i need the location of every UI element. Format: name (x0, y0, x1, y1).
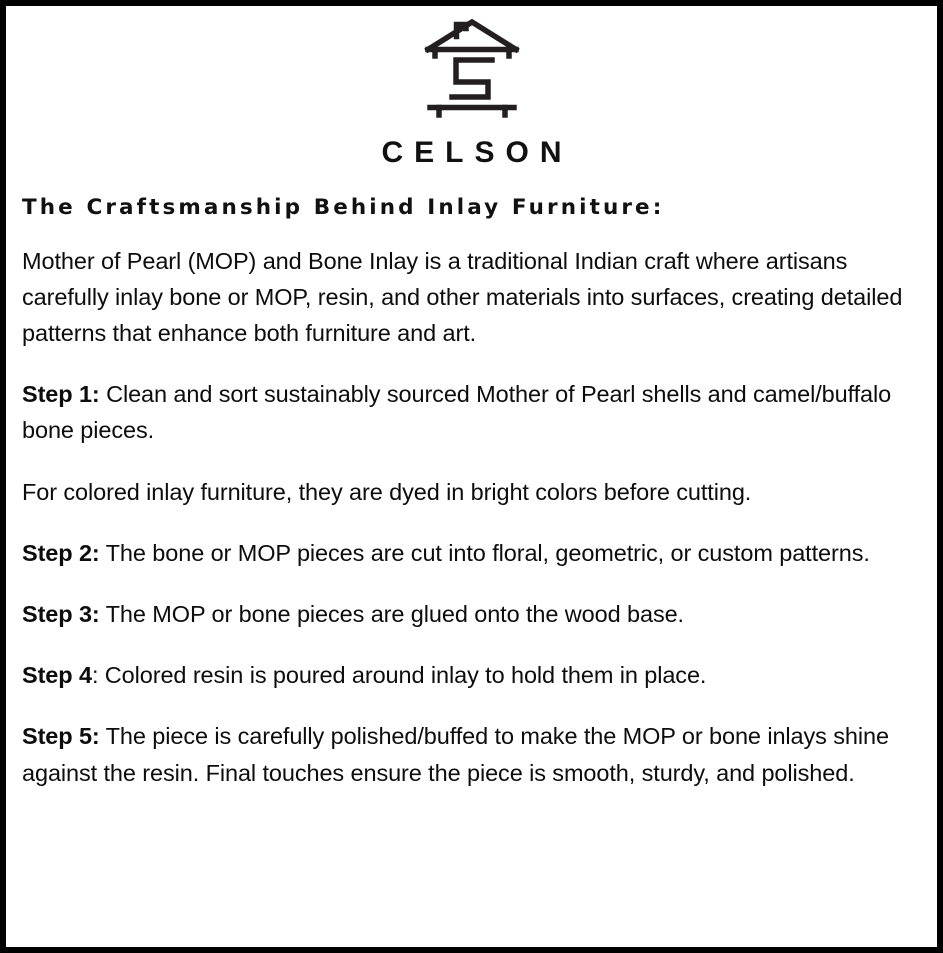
step-3-text: The MOP or bone pieces are glued onto th… (100, 601, 684, 627)
step-2-paragraph: Step 2: The bone or MOP pieces are cut i… (22, 535, 915, 571)
house-monogram-logo-icon (422, 18, 522, 122)
brand-block: CELSON (18, 14, 925, 168)
step-5-label: Step 5: (22, 723, 100, 749)
step-5-paragraph: Step 5: The piece is carefully polished/… (22, 718, 915, 790)
step-4-label: Step 4 (22, 662, 92, 688)
step-1-label: Step 1: (22, 381, 100, 407)
step-3-paragraph: Step 3: The MOP or bone pieces are glued… (22, 596, 915, 632)
step-2-label: Step 2: (22, 540, 100, 566)
step-4-text: Colored resin is poured around inlay to … (98, 662, 706, 688)
body-copy: Mother of Pearl (MOP) and Bone Inlay is … (22, 243, 915, 791)
step-3-label: Step 3: (22, 601, 100, 627)
page-title: The Craftsmanship Behind Inlay Furniture… (22, 196, 925, 221)
step-2-text: The bone or MOP pieces are cut into flor… (100, 540, 870, 566)
card-inner: CELSON The Craftsmanship Behind Inlay Fu… (6, 6, 937, 947)
brand-name: CELSON (370, 138, 572, 168)
step-1-text: Clean and sort sustainably sourced Mothe… (22, 381, 891, 443)
colored-inlay-note: For colored inlay furniture, they are dy… (22, 474, 915, 510)
infographic-card: CELSON The Craftsmanship Behind Inlay Fu… (0, 0, 943, 953)
step-4-paragraph: Step 4: Colored resin is poured around i… (22, 657, 915, 693)
step-5-text: The piece is carefully polished/buffed t… (22, 723, 889, 785)
step-1-paragraph: Step 1: Clean and sort sustainably sourc… (22, 376, 915, 448)
intro-paragraph: Mother of Pearl (MOP) and Bone Inlay is … (22, 243, 915, 352)
